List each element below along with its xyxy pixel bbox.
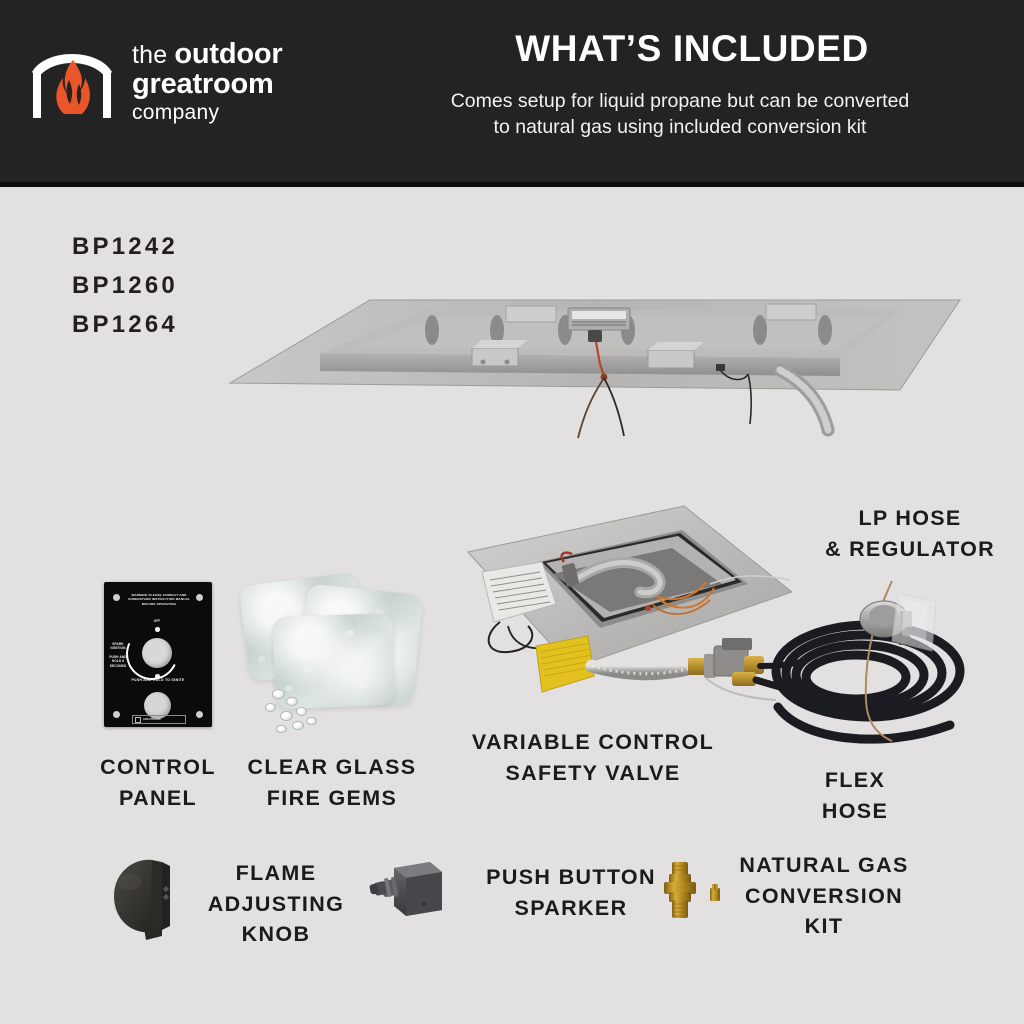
control-panel-photo: WARNING PLEASE CONSULT AND UNDERSTAND IN… [104,582,212,727]
flex-hose-caption: FLEX HOSE [772,765,938,826]
flex-hose-caption-line-2: HOSE [772,796,938,827]
panel-brand-line: GREATROOM [143,718,161,721]
logo-line-outdoor: outdoor [174,40,282,69]
flame-adjusting-knob-caption: FLAME ADJUSTING KNOB [192,858,360,950]
burner-pan-photo [200,278,980,458]
panel-warning-text: WARNING PLEASE CONSULT AND UNDERSTAND IN… [124,593,194,606]
loose-gem [286,697,298,706]
sparker-caption-line-1: PUSH BUTTON [456,862,686,893]
panel-ignite-label: PUSH AND HOLD TO IGNITE [128,678,188,683]
panel-off-label: OFF [143,619,171,623]
knob-caption-line-3: KNOB [192,919,360,950]
knob-caption-line-2: ADJUSTING [192,889,360,920]
safety-valve-caption-line-2: SAFETY VALVE [448,758,738,789]
subtitle-line-1: Comes setup for liquid propane but can b… [360,88,1000,114]
push-button-sparker-photo [368,858,450,928]
panel-main-dial[interactable] [142,638,172,668]
model-number: BP1264 [72,306,178,345]
header-divider [0,182,1024,187]
logo-line-greatroom: greatroom [132,70,282,99]
logo-wordmark: the outdoor greatroom company [132,39,282,123]
loose-gem [265,703,276,712]
panel-screw-icon [113,594,120,601]
page-subtitle: Comes setup for liquid propane but can b… [360,88,1000,141]
glass-gems-photo [240,575,420,735]
safety-valve-photo [460,500,800,720]
model-number-list: BP1242 BP1260 BP1264 [72,228,178,345]
flame-adjusting-knob-photo [100,852,186,940]
lp-hose-caption-line-2: & REGULATOR [800,534,1020,565]
natural-gas-conversion-kit-caption: NATURAL GAS CONVERSION KIT [716,850,932,942]
ngk-caption-line-3: KIT [716,911,932,942]
panel-brand-text: GREATROOM [143,718,161,721]
lp-hose-regulator-photo [760,575,1024,755]
gem-bag [272,613,395,709]
loose-gem [296,707,307,716]
glass-gems-caption: CLEAR GLASS FIRE GEMS [228,752,436,813]
loose-gem [306,717,317,725]
panel-screw-icon [196,594,203,601]
pergola-flame-logo-icon [26,38,118,124]
ngk-caption-line-1: NATURAL GAS [716,850,932,881]
page-title: WHAT’S INCLUDED [360,28,1024,70]
safety-valve-caption: VARIABLE CONTROL SAFETY VALVE [448,727,738,788]
loose-gem [272,689,285,699]
loose-gem [292,721,304,730]
logo-line-the: the [132,43,167,68]
glass-gems-caption-line-1: CLEAR GLASS [228,752,436,783]
model-number: BP1260 [72,267,178,306]
panel-brand-mark-icon [135,717,141,723]
logo-line-company: company [132,102,282,123]
glass-gems-caption-line-2: FIRE GEMS [228,783,436,814]
loose-gem [280,711,293,721]
panel-push-hold-label: PUSH AND HOLD 5 SECONDS [106,655,130,668]
lp-hose-caption: LP HOSE & REGULATOR [800,503,1020,565]
push-button-sparker-caption: PUSH BUTTON SPARKER [456,862,686,923]
lp-hose-caption-line-1: LP HOSE [800,503,1020,534]
safety-valve-caption-line-1: VARIABLE CONTROL [448,727,738,758]
panel-spark-ignition-label: SPARK IGNITION [106,642,130,651]
model-number: BP1242 [72,228,178,267]
brand-logo: the outdoor greatroom company [26,26,326,136]
sparker-caption-line-2: SPARKER [456,893,686,924]
ngk-caption-line-2: CONVERSION [716,881,932,912]
flex-hose-caption-line-1: FLEX [772,765,938,796]
panel-screw-icon [113,711,120,718]
subtitle-line-2: to natural gas using included conversion… [360,114,1000,140]
panel-brand-logo: GREATROOM [132,715,186,724]
loose-gem [276,725,287,733]
knob-caption-line-1: FLAME [192,858,360,889]
panel-screw-icon [196,711,203,718]
header-bar: the outdoor greatroom company WHAT’S INC… [0,0,1024,182]
infographic-page: the outdoor greatroom company WHAT’S INC… [0,0,1024,1024]
